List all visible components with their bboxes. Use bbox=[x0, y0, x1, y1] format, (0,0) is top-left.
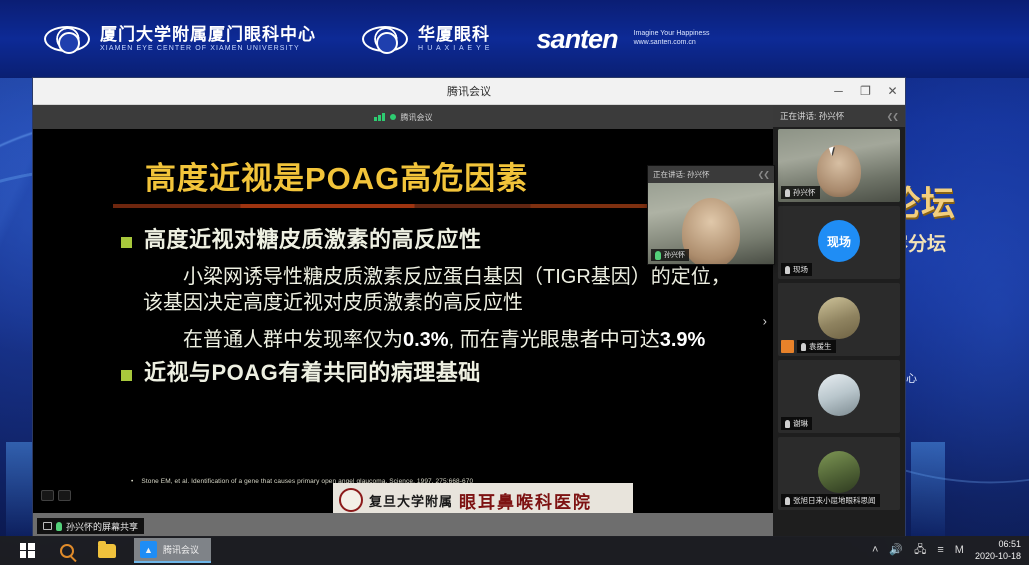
participant-name-badge: 谢琳 bbox=[781, 417, 812, 430]
chevron-left-icon[interactable]: ❮❮ bbox=[887, 112, 898, 121]
tencent-meeting-icon: ▲ bbox=[140, 541, 157, 558]
host-badge-icon bbox=[781, 340, 794, 353]
maximize-button[interactable]: ❐ bbox=[859, 85, 872, 98]
logo-huaxia-cn: 华厦眼科 bbox=[418, 26, 491, 44]
participant-avatar bbox=[818, 374, 860, 416]
participant-name: 孙兴怀 bbox=[793, 187, 816, 198]
para2-c: , 而在青光眼患者中可达 bbox=[449, 329, 660, 351]
screen-share-label: 孙兴怀的屏幕共享 bbox=[66, 520, 138, 533]
slide-bullet-2: 近视与POAG有着共同的病理基础 bbox=[121, 359, 733, 387]
eye-logo-icon bbox=[362, 26, 408, 52]
taskbar-item-tencent-meeting[interactable]: ▲ 腾讯会议 bbox=[134, 538, 211, 563]
para2-a: 在普通人群中发现率仅为 bbox=[183, 329, 403, 351]
clock-date: 2020-10-18 bbox=[975, 551, 1021, 562]
next-page-arrow-icon[interactable]: › bbox=[763, 313, 767, 328]
logo-xiamen-en: XIAMEN EYE CENTER OF XIAMEN UNIVERSITY bbox=[100, 45, 316, 52]
input-method-icon[interactable]: ≡ bbox=[937, 545, 943, 556]
floating-video-speaker-label: 正在讲话: 孙兴怀 bbox=[653, 169, 710, 180]
search-icon[interactable] bbox=[48, 536, 86, 565]
chevron-left-icon[interactable]: ❮❮ bbox=[758, 170, 769, 179]
para2-b: 0.3% bbox=[403, 329, 449, 351]
participant-name-badge: 现场 bbox=[781, 263, 812, 276]
microphone-icon bbox=[785, 497, 790, 505]
participant-tile[interactable]: 袁援生 bbox=[778, 283, 900, 356]
network-icon[interactable]: 🖧 bbox=[914, 545, 926, 556]
close-button[interactable]: ✕ bbox=[886, 85, 899, 98]
para2-d: 3.9% bbox=[660, 329, 706, 351]
window-body: 腾讯会议 高度近视是POAG高危因素 高度近视对糖皮质激素的高反应性 小梁网诱导… bbox=[33, 105, 905, 536]
participant-name: 张旭日来小屈地眼科思闻 bbox=[793, 495, 876, 506]
taskbar-clock[interactable]: 06:51 2020-10-18 bbox=[975, 539, 1021, 562]
window-title: 腾讯会议 bbox=[447, 83, 491, 99]
clock-time: 06:51 bbox=[975, 539, 1021, 550]
window-titlebar[interactable]: 腾讯会议 ─ ❐ ✕ bbox=[33, 78, 905, 105]
floating-video-face bbox=[682, 198, 740, 264]
participant-name-badge: 袁援生 bbox=[797, 340, 836, 353]
active-speaker-label: 正在讲话: 孙兴怀 bbox=[780, 110, 844, 122]
screen-share-indicator: 孙兴怀的屏幕共享 bbox=[37, 518, 144, 534]
recording-dot-icon bbox=[390, 114, 396, 120]
microphone-icon bbox=[801, 343, 806, 351]
windows-start-icon[interactable] bbox=[8, 536, 46, 565]
participant-name: 谢琳 bbox=[793, 418, 808, 429]
participant-avatar bbox=[818, 451, 860, 493]
logo-xiamen-cn: 厦门大学附属厦门眼科中心 bbox=[100, 26, 316, 44]
logo-huaxia-en: H U A X I A E Y E bbox=[418, 45, 491, 52]
tencent-meeting-window: 腾讯会议 ─ ❐ ✕ 腾讯会议 高度近视是POAG高危因素 bbox=[33, 78, 905, 536]
participant-name: 袁援生 bbox=[809, 341, 832, 352]
floating-video-header: 正在讲话: 孙兴怀 ❮❮ bbox=[648, 166, 774, 183]
shared-screen-topbar: 腾讯会议 bbox=[33, 105, 773, 129]
app-tray-icon[interactable]: M bbox=[955, 545, 964, 556]
microphone-icon bbox=[785, 266, 790, 274]
participant-name-badge: 张旭日来小屈地眼科思闻 bbox=[781, 494, 880, 507]
slide-title: 高度近视是POAG高危因素 bbox=[145, 153, 733, 198]
participant-name-badge: 孙兴怀 bbox=[781, 186, 820, 199]
participant-name: 现场 bbox=[793, 264, 808, 275]
floating-video-name-badge: 孙兴怀 bbox=[651, 249, 689, 261]
microphone-icon bbox=[785, 420, 790, 428]
windows-taskbar: ▲ 腾讯会议 ˄ 🔊 🖧 ≡ M 06:51 2020-10-18 bbox=[0, 536, 1029, 565]
taskbar-item-label: 腾讯会议 bbox=[163, 543, 199, 556]
minimize-button[interactable]: ─ bbox=[832, 85, 845, 98]
volume-icon[interactable]: 🔊 bbox=[889, 545, 903, 556]
screen-root: 厦门大学附属厦门眼科中心 XIAMEN EYE CENTER OF XIAMEN… bbox=[0, 0, 1029, 565]
shared-screen-app-label: 腾讯会议 bbox=[401, 112, 433, 123]
show-hidden-icons-icon[interactable]: ˄ bbox=[872, 545, 878, 556]
floating-video-feed: 孙兴怀 bbox=[648, 183, 774, 264]
window-controls: ─ ❐ ✕ bbox=[832, 78, 899, 105]
slide-paragraph-1: 小梁网诱导性糖皮质激素反应蛋白基因（TIGR基因）的定位，该基因决定高度近视对皮… bbox=[143, 264, 733, 317]
slide-edge-controls[interactable] bbox=[41, 490, 71, 501]
backdrop-pillar-left bbox=[6, 442, 32, 537]
microphone-icon bbox=[655, 251, 661, 260]
eye-logo-icon bbox=[44, 26, 90, 52]
participant-avatar bbox=[818, 297, 860, 339]
logo-huaxia-eye: 华厦眼科 H U A X I A E Y E bbox=[362, 26, 491, 53]
bullet-square-icon bbox=[121, 237, 132, 248]
hospital-logo: 复旦大学附属 眼耳鼻喉科医院 bbox=[333, 483, 633, 517]
santen-wordmark: santen bbox=[537, 24, 618, 55]
logo-santen: santen Imagine Your Happiness www.santen… bbox=[537, 24, 710, 55]
participant-tile[interactable]: 现场 现场 bbox=[778, 206, 900, 279]
microphone-icon bbox=[785, 189, 790, 197]
participant-face bbox=[817, 145, 861, 197]
signal-strength-icon bbox=[374, 113, 385, 121]
sponsor-logo-band: 厦门大学附属厦门眼科中心 XIAMEN EYE CENTER OF XIAMEN… bbox=[0, 0, 1029, 78]
participant-filmstrip: 正在讲话: 孙兴怀 ❮❮ 孙兴怀 现场 现场 bbox=[773, 105, 905, 536]
slide-bullet-2-text: 近视与POAG有着共同的病理基础 bbox=[144, 359, 481, 387]
slide-control-icon-2[interactable] bbox=[58, 490, 71, 501]
slide-control-icon-1[interactable] bbox=[41, 490, 54, 501]
slide-bullet-1-text: 高度近视对糖皮质激素的高反应性 bbox=[144, 226, 482, 254]
participant-avatar: 现场 bbox=[818, 220, 860, 262]
slide-title-rule bbox=[113, 204, 693, 208]
hospital-logo-cn2: 眼耳鼻喉科医院 bbox=[459, 488, 592, 513]
santen-tagline-2: www.santen.com.cn bbox=[634, 39, 710, 48]
hospital-seal-icon bbox=[339, 488, 363, 512]
bullet-square-icon bbox=[121, 370, 132, 381]
microphone-icon bbox=[56, 522, 62, 531]
slide-bullet-1: 高度近视对糖皮质激素的高反应性 bbox=[121, 226, 733, 254]
participant-tile[interactable]: 张旭日来小屈地眼科思闻 bbox=[778, 437, 900, 510]
file-explorer-icon[interactable] bbox=[88, 536, 126, 565]
floating-video-name: 孙兴怀 bbox=[664, 250, 685, 260]
slide-paragraph-2: 在普通人群中发现率仅为0.3%, 而在青光眼患者中可达3.9% bbox=[143, 327, 733, 354]
participant-tile[interactable]: 谢琳 bbox=[778, 360, 900, 433]
active-speaker-header: 正在讲话: 孙兴怀 ❮❮ bbox=[773, 105, 905, 127]
floating-speaker-video[interactable]: 正在讲话: 孙兴怀 ❮❮ 孙兴怀 bbox=[648, 166, 774, 264]
monitor-icon bbox=[43, 522, 52, 530]
taskbar-system-tray: ˄ 🔊 🖧 ≡ M 06:51 2020-10-18 bbox=[872, 539, 1029, 562]
santen-tagline-1: Imagine Your Happiness bbox=[634, 30, 710, 39]
logo-xiamen-eye-center: 厦门大学附属厦门眼科中心 XIAMEN EYE CENTER OF XIAMEN… bbox=[44, 26, 316, 53]
taskbar-left-group: ▲ 腾讯会议 bbox=[0, 536, 211, 565]
participant-tile[interactable]: 孙兴怀 bbox=[778, 129, 900, 202]
hospital-logo-cn1: 复旦大学附属 bbox=[369, 491, 453, 510]
